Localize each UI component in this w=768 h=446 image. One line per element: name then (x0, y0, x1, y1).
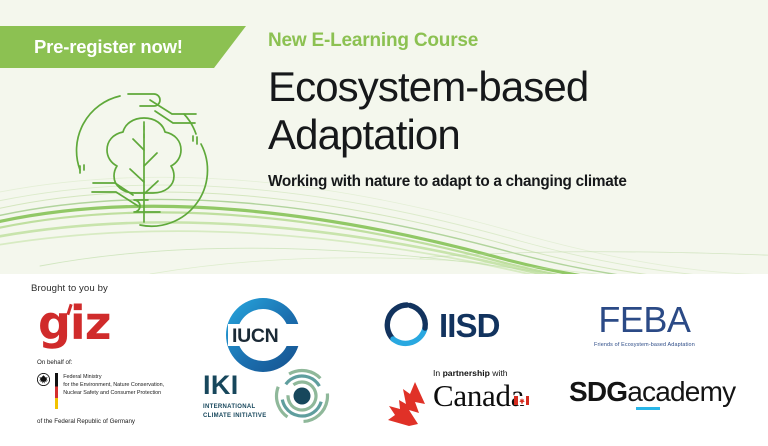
canada-flag-icon (514, 396, 529, 405)
iki-subtitle: INTERNATIONAL CLIMATE INITIATIVE (203, 403, 267, 421)
title-line-1: Ecosystem-based (268, 63, 758, 111)
giz-wordmark: giz (38, 300, 110, 346)
in-partnership-with-label: In partnership with (433, 368, 529, 378)
logo-iki: IKI INTERNATIONAL CLIMATE INITIATIVE (203, 368, 330, 424)
feba-wordmark: FEBA (594, 302, 695, 338)
flag-maple-leaf-icon (519, 397, 525, 404)
iucn-wordmark: IUCN (232, 325, 278, 348)
iki-subtitle-line-1: INTERNATIONAL (203, 403, 267, 412)
logo-feba: FEBA Friends of Ecosystem-based Adaptati… (594, 302, 695, 348)
tree-circuit-icon (58, 74, 230, 232)
canada-wordmark-row: Canada (385, 380, 529, 428)
partnership-suffix: with (490, 368, 508, 378)
page-title: Ecosystem-based Adaptation (268, 63, 758, 159)
hero-section: Pre-register now! (0, 0, 768, 274)
promotional-poster: Pre-register now! (0, 0, 768, 446)
ministry-line-1: Federal Ministry (63, 374, 164, 382)
iisd-ring-icon (384, 302, 430, 348)
sdg-academy-wordmark: SDGacademy (569, 378, 735, 406)
logo-iisd: IISD (384, 302, 500, 348)
brought-to-you-by-label: Brought to you by (31, 283, 108, 294)
canada-wordmark: Canada (433, 380, 524, 411)
flag-bar-right (526, 396, 530, 405)
hero-text-block: New E-Learning Course Ecosystem-based Ad… (268, 30, 758, 191)
sdg-accent-underline (636, 407, 660, 410)
partnership-prefix: In (433, 368, 443, 378)
federal-eagle-icon (37, 373, 50, 386)
page-subtitle: Working with nature to adapt to a changi… (268, 173, 758, 191)
iki-subtitle-line-2: CLIMATE INITIATIVE (203, 412, 267, 421)
on-behalf-of-label: On behalf of: (37, 359, 237, 366)
giz-text: giz (38, 296, 110, 350)
sdg-bold-text: SDG (569, 376, 627, 407)
maple-leaf-icon (385, 380, 429, 428)
feba-tagline: Friends of Ecosystem-based Adaptation (594, 342, 695, 348)
sdg-light-text: academy (627, 376, 735, 407)
german-flag-bar (55, 373, 58, 409)
pre-register-label: Pre-register now! (0, 36, 183, 58)
logo-sdg-academy: SDGacademy (569, 378, 735, 406)
pre-register-banner[interactable]: Pre-register now! (0, 26, 246, 68)
logo-iucn: IUCN (215, 292, 311, 378)
ministry-line-3: Nuclear Safety and Consumer Protection (63, 390, 164, 398)
partnership-bold: partnership (443, 368, 490, 378)
logo-giz: giz (38, 300, 110, 346)
course-eyebrow: New E-Learning Course (268, 30, 758, 52)
flag-center (518, 396, 526, 405)
title-line-2: Adaptation (268, 111, 758, 159)
iki-text-block: IKI INTERNATIONAL CLIMATE INITIATIVE (203, 372, 267, 421)
partners-section: Brought to you by giz On behalf of: Fede… (0, 274, 768, 446)
iki-wordmark: IKI (203, 372, 267, 399)
logo-canada: In partnership with Canada (385, 368, 529, 428)
iki-concentric-icon (274, 368, 330, 424)
ministry-line-2: for the Environment, Nature Conservation… (63, 382, 164, 390)
iisd-wordmark: IISD (439, 309, 500, 342)
ministry-name: Federal Ministry for the Environment, Na… (63, 373, 164, 398)
